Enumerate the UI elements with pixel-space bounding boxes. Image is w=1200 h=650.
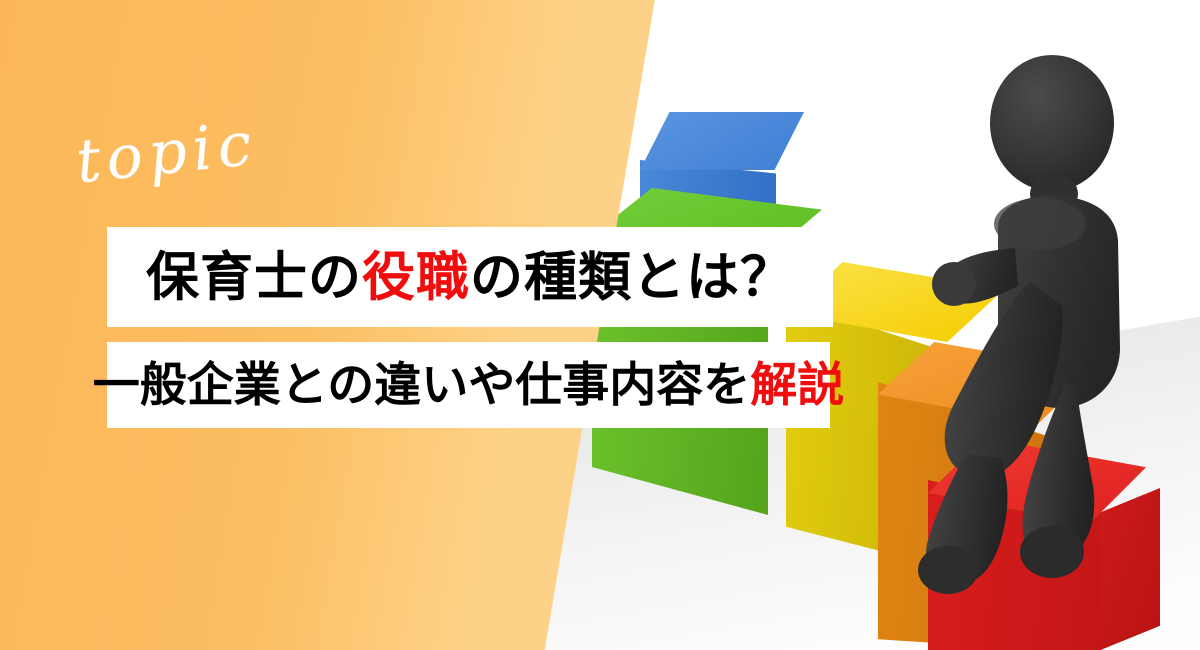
title-line-1-highlight: 役職: [362, 247, 470, 308]
banner-root: topic 保育士の役職の種類とは？ 一般企業との違いや仕事内容を解説: [0, 0, 1200, 650]
blue-step-top-face: [640, 112, 804, 170]
title-line-1-before: 保育士の: [146, 247, 362, 308]
title-box-primary: 保育士の役職の種類とは？: [107, 227, 833, 327]
climbing-figure-icon: [880, 18, 1200, 618]
title-line-2: 一般企業との違いや仕事内容を解説: [93, 362, 845, 409]
title-line-1: 保育士の役職の種類とは？: [146, 251, 794, 304]
title-line-1-after: の種類とは？: [470, 247, 794, 308]
title-line-2-before: 一般企業との違いや仕事内容を: [93, 358, 751, 413]
title-box-secondary: 一般企業との違いや仕事内容を解説: [107, 342, 830, 428]
title-line-2-highlight: 解説: [750, 358, 844, 413]
